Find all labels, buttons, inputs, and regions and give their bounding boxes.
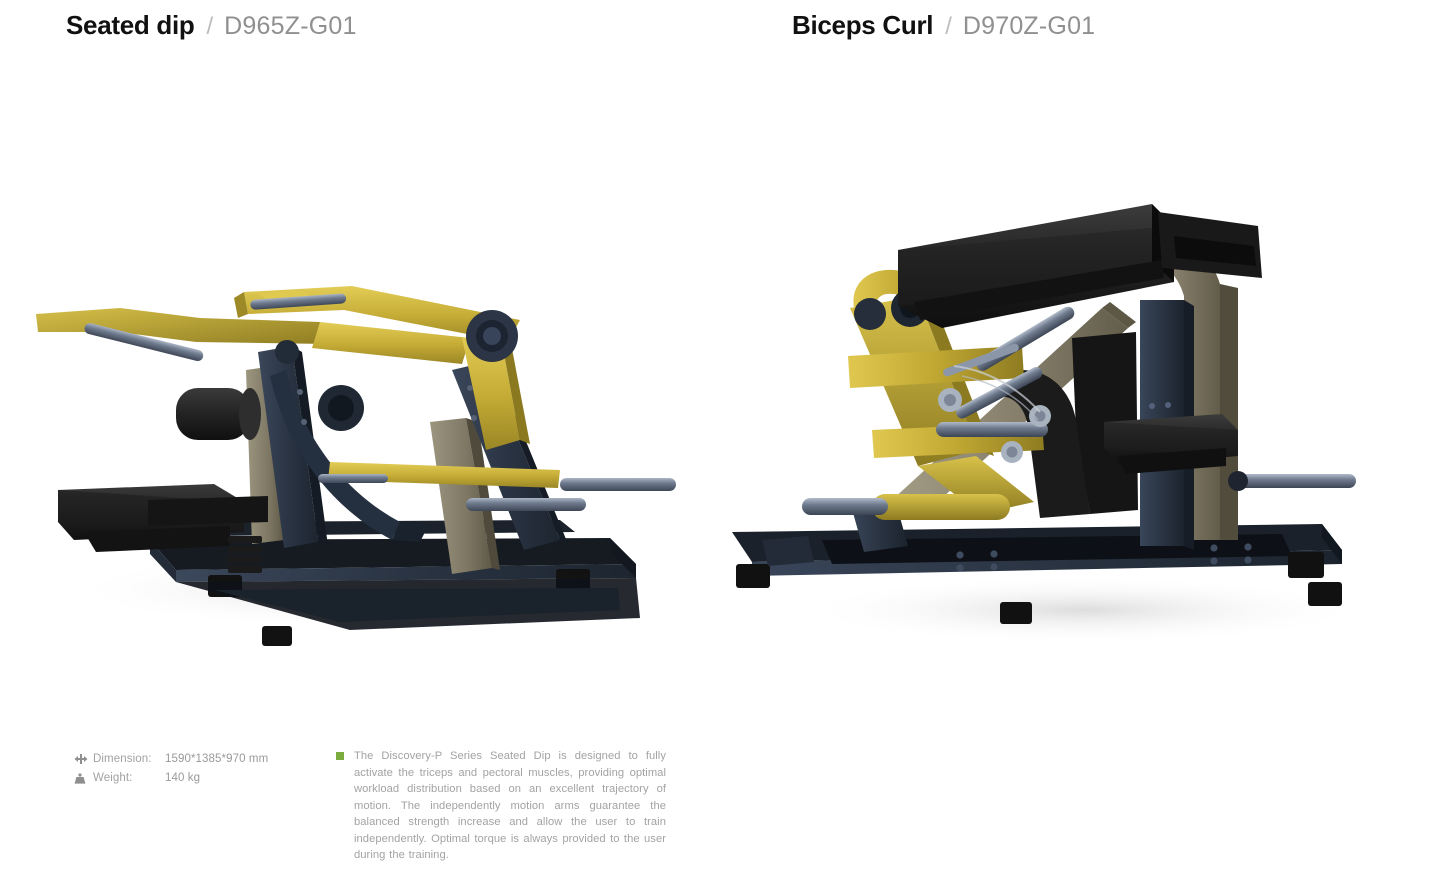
product-panel-biceps-curl: Biceps Curl / D970Z-G01 <box>722 0 1445 875</box>
page-title: Biceps Curl <box>792 10 933 41</box>
product-image-biceps-curl <box>722 70 1445 720</box>
page-title: Seated dip <box>66 10 194 41</box>
spec-table: Dimension: 1590*1385*970 mm Weight: 140 … <box>74 748 324 788</box>
product-panel-seated-dip: Seated dip / D965Z-G01 <box>0 0 722 875</box>
spec-label-weight: Weight: <box>93 772 165 784</box>
seated-dip-illustration <box>0 70 722 720</box>
product-header: Seated dip / D965Z-G01 <box>66 10 357 41</box>
title-separator: / <box>206 13 213 41</box>
product-image-seated-dip <box>0 70 722 720</box>
product-description: The Discovery-P Series Seated Dip is des… <box>354 748 666 864</box>
weight-icon <box>74 772 89 785</box>
product-header: Biceps Curl / D970Z-G01 <box>792 10 1095 41</box>
spec-value-weight: 140 kg <box>165 772 200 784</box>
machine-render-seated-dip <box>0 70 722 720</box>
spec-row-weight: Weight: 140 kg <box>74 769 324 787</box>
bullet-square-icon <box>336 752 344 760</box>
biceps-curl-illustration <box>722 70 1445 720</box>
machine-render-biceps-curl <box>722 70 1445 720</box>
spec-row-dimension: Dimension: 1590*1385*970 mm <box>74 750 324 768</box>
product-catalog-page: Seated dip / D965Z-G01 <box>0 0 1445 875</box>
spec-label-dimension: Dimension: <box>93 753 165 765</box>
description-block: The Discovery-P Series Seated Dip is des… <box>336 748 666 864</box>
spec-value-dimension: 1590*1385*970 mm <box>165 753 268 765</box>
dimension-icon <box>74 753 89 766</box>
product-code: D970Z-G01 <box>963 12 1095 41</box>
title-separator: / <box>945 13 952 41</box>
spec-area: Dimension: 1590*1385*970 mm Weight: 140 … <box>74 748 666 864</box>
product-code: D965Z-G01 <box>224 12 356 41</box>
